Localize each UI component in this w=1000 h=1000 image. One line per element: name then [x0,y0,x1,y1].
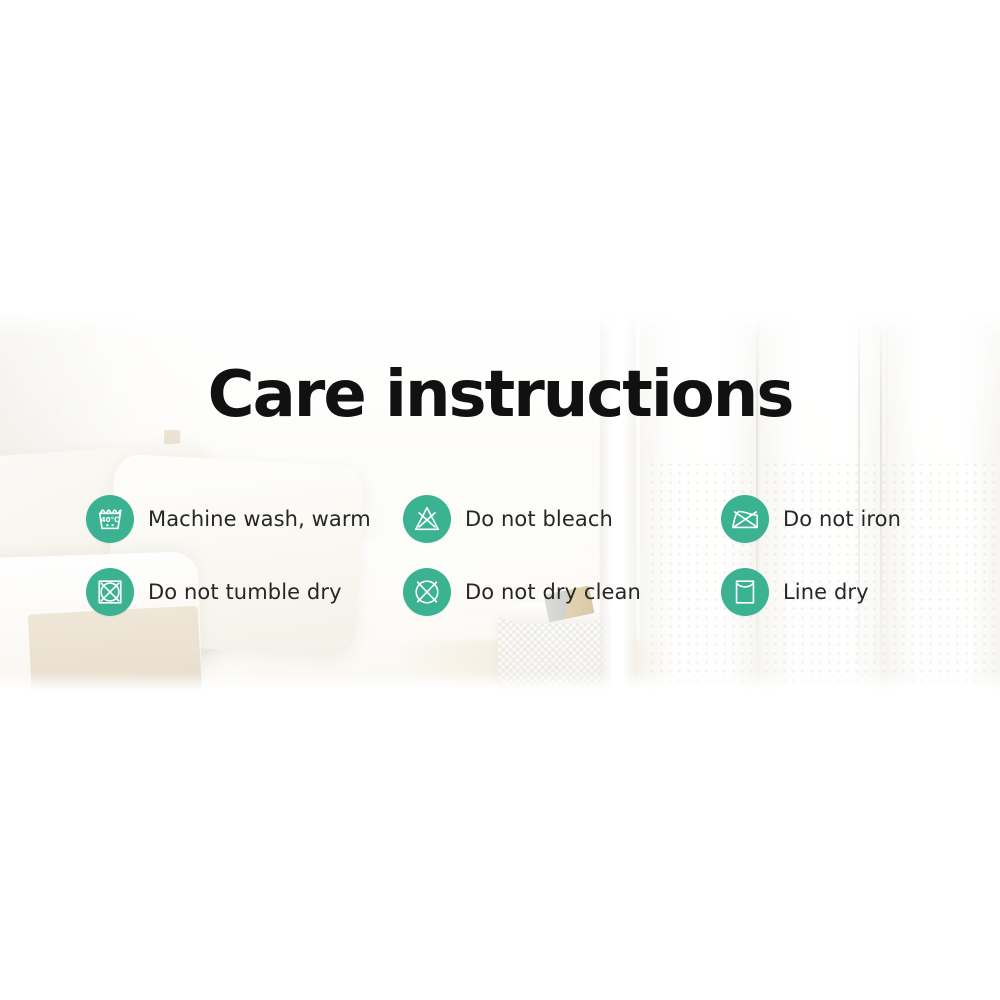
svg-text:40℃: 40℃ [101,515,120,524]
care-item-do-not-iron: Do not iron [721,482,966,555]
care-label: Do not iron [783,507,901,531]
line-dry-icon [721,568,769,616]
care-label: Do not bleach [465,507,613,531]
care-item-do-not-dry-clean: Do not dry clean [403,555,721,628]
care-item-do-not-bleach: Do not bleach [403,482,721,555]
do-not-iron-icon [721,495,769,543]
photo-fade-top [0,310,1000,336]
care-item-machine-wash-warm: 40℃ Machine wash, warm [86,482,403,555]
machine-wash-warm-icon: 40℃ [86,495,134,543]
care-label: Do not dry clean [465,580,641,604]
do-not-tumble-dry-icon [86,568,134,616]
do-not-bleach-icon [403,495,451,543]
photo-fade-bottom [0,672,1000,690]
care-label: Machine wash, warm [148,507,371,531]
care-instructions-grid: 40℃ Machine wash, warm Do not bleach [86,482,966,628]
care-instructions-banner: Care instructions 40℃ Machine wash, warm [0,0,1000,1000]
care-label: Do not tumble dry [148,580,342,604]
care-label: Line dry [783,580,869,604]
page-title: Care instructions [0,358,1000,432]
do-not-dry-clean-icon [403,568,451,616]
care-item-line-dry: Line dry [721,555,966,628]
care-item-do-not-tumble-dry: Do not tumble dry [86,555,403,628]
